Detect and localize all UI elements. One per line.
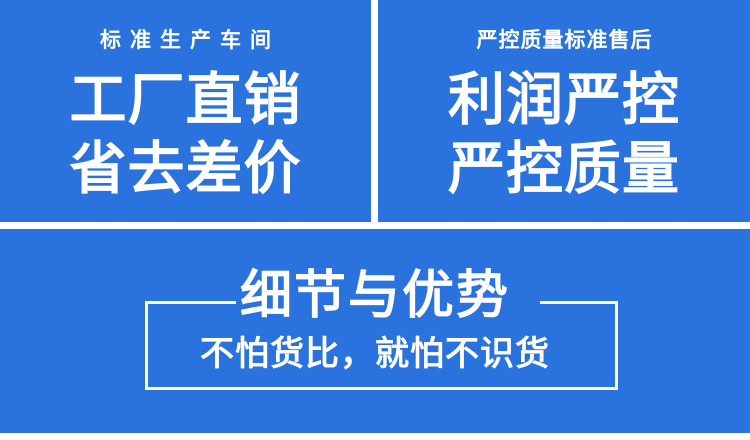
panel-factory-direct: 标准生产车间 工厂直销 省去差价 [0, 0, 371, 222]
bottom-panel-subtitle: 不怕货比，就怕不识货 [0, 337, 750, 371]
panel-right-headline-line2: 严控质量 [378, 141, 750, 198]
bottom-panel-title: 细节与优势 [0, 270, 750, 322]
panel-right-kicker: 严控质量标准售后 [378, 30, 750, 51]
panel-right-headline-line1: 利润严控 [378, 72, 750, 129]
promo-banner: 标准生产车间 工厂直销 省去差价 严控质量标准售后 利润严控 严控质量 细节与优… [0, 0, 750, 440]
panel-left-headline-line1: 工厂直销 [0, 72, 371, 129]
panel-quality-control: 严控质量标准售后 利润严控 严控质量 [378, 0, 750, 222]
panel-left-kicker: 标准生产车间 [0, 30, 371, 51]
panel-left-headline-line2: 省去差价 [0, 141, 371, 198]
